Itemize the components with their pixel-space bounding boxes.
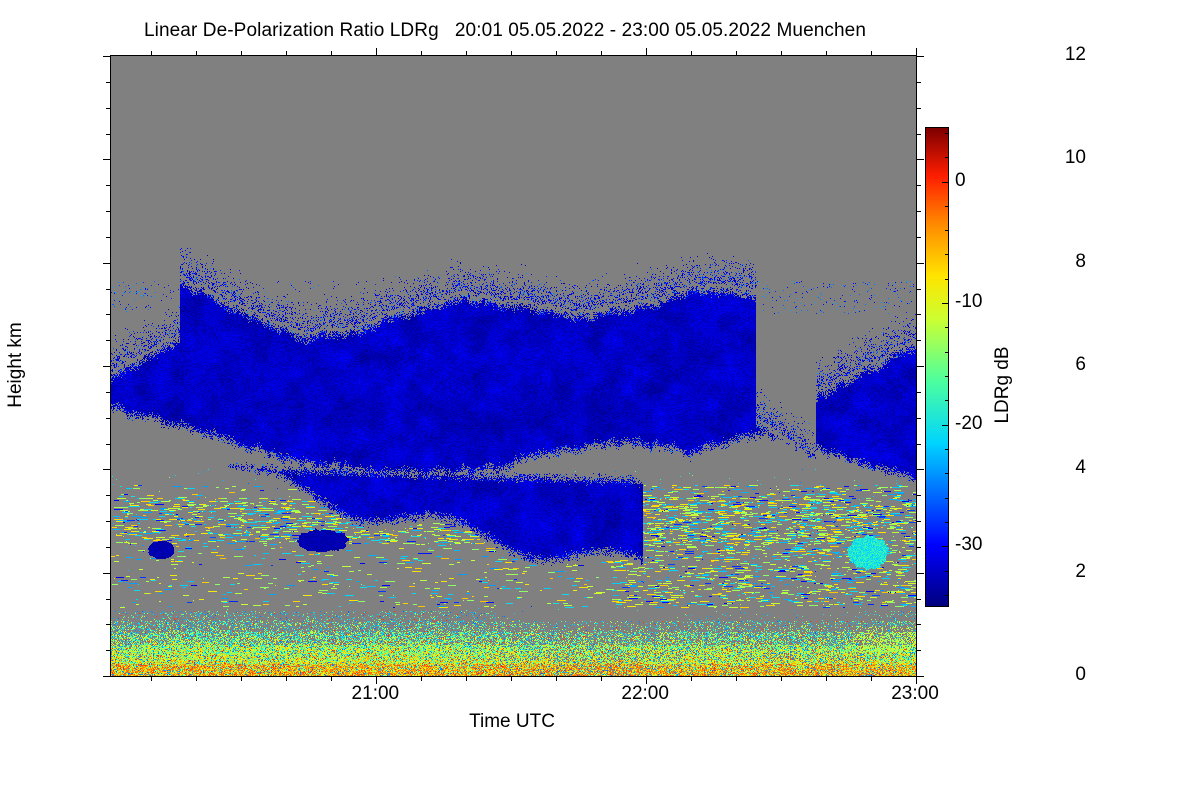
y-minor-tick <box>106 82 111 83</box>
y-minor-tick <box>106 444 111 445</box>
x-major-tick-top <box>376 48 377 56</box>
plot-area <box>110 55 917 677</box>
y-tick-label: 10 <box>1065 147 1086 169</box>
x-minor-tick <box>826 676 827 681</box>
y-minor-tick <box>106 521 111 522</box>
colorbar-minor-tick <box>945 279 949 280</box>
y-minor-tick-right <box>916 185 921 186</box>
y-minor-tick <box>106 418 111 419</box>
radar-plot-figure: Linear De-Polarization Ratio LDRg 20:01 … <box>0 0 1200 800</box>
colorbar-major-tick <box>942 303 949 304</box>
x-minor-tick-top <box>421 51 422 56</box>
y-minor-tick <box>106 211 111 212</box>
x-minor-tick-top <box>601 51 602 56</box>
colorbar-minor-tick <box>945 157 949 158</box>
y-minor-tick-right <box>916 134 921 135</box>
y-axis-title: Height km <box>5 322 27 408</box>
y-minor-tick-right <box>916 289 921 290</box>
y-minor-tick <box>106 314 111 315</box>
x-minor-tick <box>196 676 197 681</box>
x-minor-tick <box>556 676 557 681</box>
x-minor-tick-top <box>826 51 827 56</box>
x-minor-tick <box>151 676 152 681</box>
x-minor-tick-top <box>781 51 782 56</box>
y-minor-tick <box>106 392 111 393</box>
colorbar-minor-tick <box>945 133 949 134</box>
y-major-tick <box>103 56 111 57</box>
colorbar-title: LDRg dB <box>992 346 1014 423</box>
x-tick-label: 21:00 <box>352 683 400 705</box>
x-minor-tick-top <box>691 51 692 56</box>
x-minor-tick-top <box>196 51 197 56</box>
y-major-tick <box>103 159 111 160</box>
x-major-tick-top <box>646 48 647 56</box>
y-tick-label: 12 <box>1065 44 1086 66</box>
x-minor-tick <box>331 676 332 681</box>
x-minor-tick <box>511 676 512 681</box>
y-minor-tick <box>106 289 111 290</box>
x-minor-tick <box>241 676 242 681</box>
colorbar-minor-tick <box>945 595 949 596</box>
x-minor-tick-top <box>331 51 332 56</box>
x-minor-tick-top <box>871 51 872 56</box>
x-tick-label: 23:00 <box>891 683 939 705</box>
x-minor-tick <box>691 676 692 681</box>
y-minor-tick <box>106 108 111 109</box>
y-minor-tick-right <box>916 108 921 109</box>
y-major-tick-right <box>916 366 924 367</box>
colorbar-tick-label: 0 <box>955 170 966 192</box>
y-minor-tick-right <box>916 650 921 651</box>
y-minor-tick <box>106 340 111 341</box>
y-minor-tick-right <box>916 392 921 393</box>
x-minor-tick <box>601 676 602 681</box>
colorbar-major-tick <box>942 546 949 547</box>
x-minor-tick <box>736 676 737 681</box>
ldr-heatmap-canvas <box>111 56 916 676</box>
y-major-tick-right <box>916 676 924 677</box>
x-minor-tick-top <box>286 51 287 56</box>
y-minor-tick-right <box>916 599 921 600</box>
colorbar-minor-tick <box>945 473 949 474</box>
colorbar-minor-tick <box>945 449 949 450</box>
y-major-tick <box>103 263 111 264</box>
colorbar-major-tick <box>942 425 949 426</box>
x-minor-tick-top <box>556 51 557 56</box>
y-minor-tick <box>106 237 111 238</box>
colorbar-minor-tick <box>945 498 949 499</box>
y-minor-tick <box>106 624 111 625</box>
y-minor-tick <box>106 134 111 135</box>
colorbar <box>925 127 949 607</box>
y-major-tick-right <box>916 56 924 57</box>
colorbar-tick-label: -30 <box>955 534 982 556</box>
colorbar-tick-label: -10 <box>955 291 982 313</box>
y-minor-tick-right <box>916 495 921 496</box>
x-minor-tick-top <box>466 51 467 56</box>
y-tick-label: 4 <box>1075 457 1086 479</box>
y-tick-label: 0 <box>1075 664 1086 686</box>
x-minor-tick <box>871 676 872 681</box>
colorbar-minor-tick <box>945 254 949 255</box>
y-tick-label: 8 <box>1075 251 1086 273</box>
colorbar-minor-tick <box>945 400 949 401</box>
y-major-tick <box>103 676 111 677</box>
y-minor-tick-right <box>916 340 921 341</box>
y-minor-tick <box>106 495 111 496</box>
x-minor-tick-top <box>511 51 512 56</box>
y-minor-tick <box>106 185 111 186</box>
colorbar-minor-tick <box>945 230 949 231</box>
y-minor-tick-right <box>916 237 921 238</box>
y-tick-label: 2 <box>1075 561 1086 583</box>
colorbar-minor-tick <box>945 522 949 523</box>
y-minor-tick <box>106 599 111 600</box>
y-major-tick <box>103 469 111 470</box>
x-minor-tick <box>781 676 782 681</box>
y-minor-tick <box>106 547 111 548</box>
y-minor-tick-right <box>916 547 921 548</box>
y-major-tick <box>103 366 111 367</box>
colorbar-gradient <box>926 128 948 606</box>
colorbar-tick-label: -20 <box>955 413 982 435</box>
y-minor-tick-right <box>916 82 921 83</box>
y-major-tick-right <box>916 573 924 574</box>
x-minor-tick-top <box>736 51 737 56</box>
x-tick-label: 22:00 <box>621 683 669 705</box>
x-axis-title: Time UTC <box>469 711 555 733</box>
x-minor-tick <box>286 676 287 681</box>
colorbar-minor-tick <box>945 327 949 328</box>
x-major-tick-top <box>916 48 917 56</box>
y-major-tick <box>103 573 111 574</box>
colorbar-minor-tick <box>945 206 949 207</box>
y-major-tick-right <box>916 469 924 470</box>
colorbar-major-tick <box>942 182 949 183</box>
y-minor-tick-right <box>916 211 921 212</box>
y-minor-tick <box>106 650 111 651</box>
y-minor-tick-right <box>916 521 921 522</box>
x-minor-tick <box>421 676 422 681</box>
y-minor-tick-right <box>916 444 921 445</box>
x-minor-tick-top <box>151 51 152 56</box>
colorbar-minor-tick <box>945 376 949 377</box>
y-minor-tick-right <box>916 418 921 419</box>
colorbar-minor-tick <box>945 352 949 353</box>
y-tick-label: 6 <box>1075 354 1086 376</box>
colorbar-minor-tick <box>945 571 949 572</box>
y-major-tick-right <box>916 159 924 160</box>
y-minor-tick-right <box>916 314 921 315</box>
y-major-tick-right <box>916 263 924 264</box>
x-minor-tick <box>466 676 467 681</box>
x-minor-tick-top <box>241 51 242 56</box>
y-minor-tick-right <box>916 624 921 625</box>
figure-title: Linear De-Polarization Ratio LDRg 20:01 … <box>0 20 1010 42</box>
